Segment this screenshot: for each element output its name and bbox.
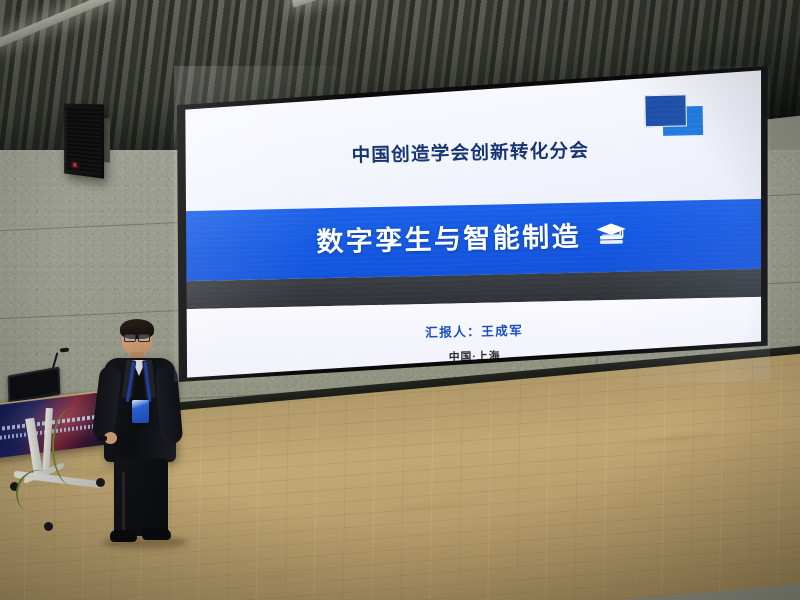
person-leg-seam xyxy=(122,472,125,534)
speaker-power-led xyxy=(73,163,77,167)
led-screen[interactable]: 数字孪生技术与工程实践 中国创造学会创新转化分会 数字孪生与智能制造 xyxy=(174,66,770,382)
person-shoe xyxy=(142,528,171,540)
overlapping-squares-logo xyxy=(644,95,703,138)
floor-cable xyxy=(52,408,94,486)
conference-room-photo: 数字孪生技术与工程实践 中国创造学会创新转化分会 数字孪生与智能制造 xyxy=(0,0,800,600)
gear-network-icon xyxy=(645,66,658,71)
presentation-slide: 数字孪生技术与工程实践 中国创造学会创新转化分会 数字孪生与智能制造 xyxy=(174,66,770,382)
logo-square-front xyxy=(644,95,687,128)
presenter-person xyxy=(96,322,188,550)
wall-speaker xyxy=(64,104,104,179)
person-shoe xyxy=(110,530,137,542)
eyeglasses-icon xyxy=(124,334,150,340)
speaker-grille xyxy=(67,107,101,176)
conference-badge xyxy=(132,400,149,423)
graduation-cap-book-icon xyxy=(594,221,629,248)
lectern-caster xyxy=(44,522,53,531)
presentation-clicker xyxy=(98,436,107,441)
slide-title: 数字孪生与智能制造 xyxy=(316,216,581,261)
laptop-screen xyxy=(10,369,59,400)
